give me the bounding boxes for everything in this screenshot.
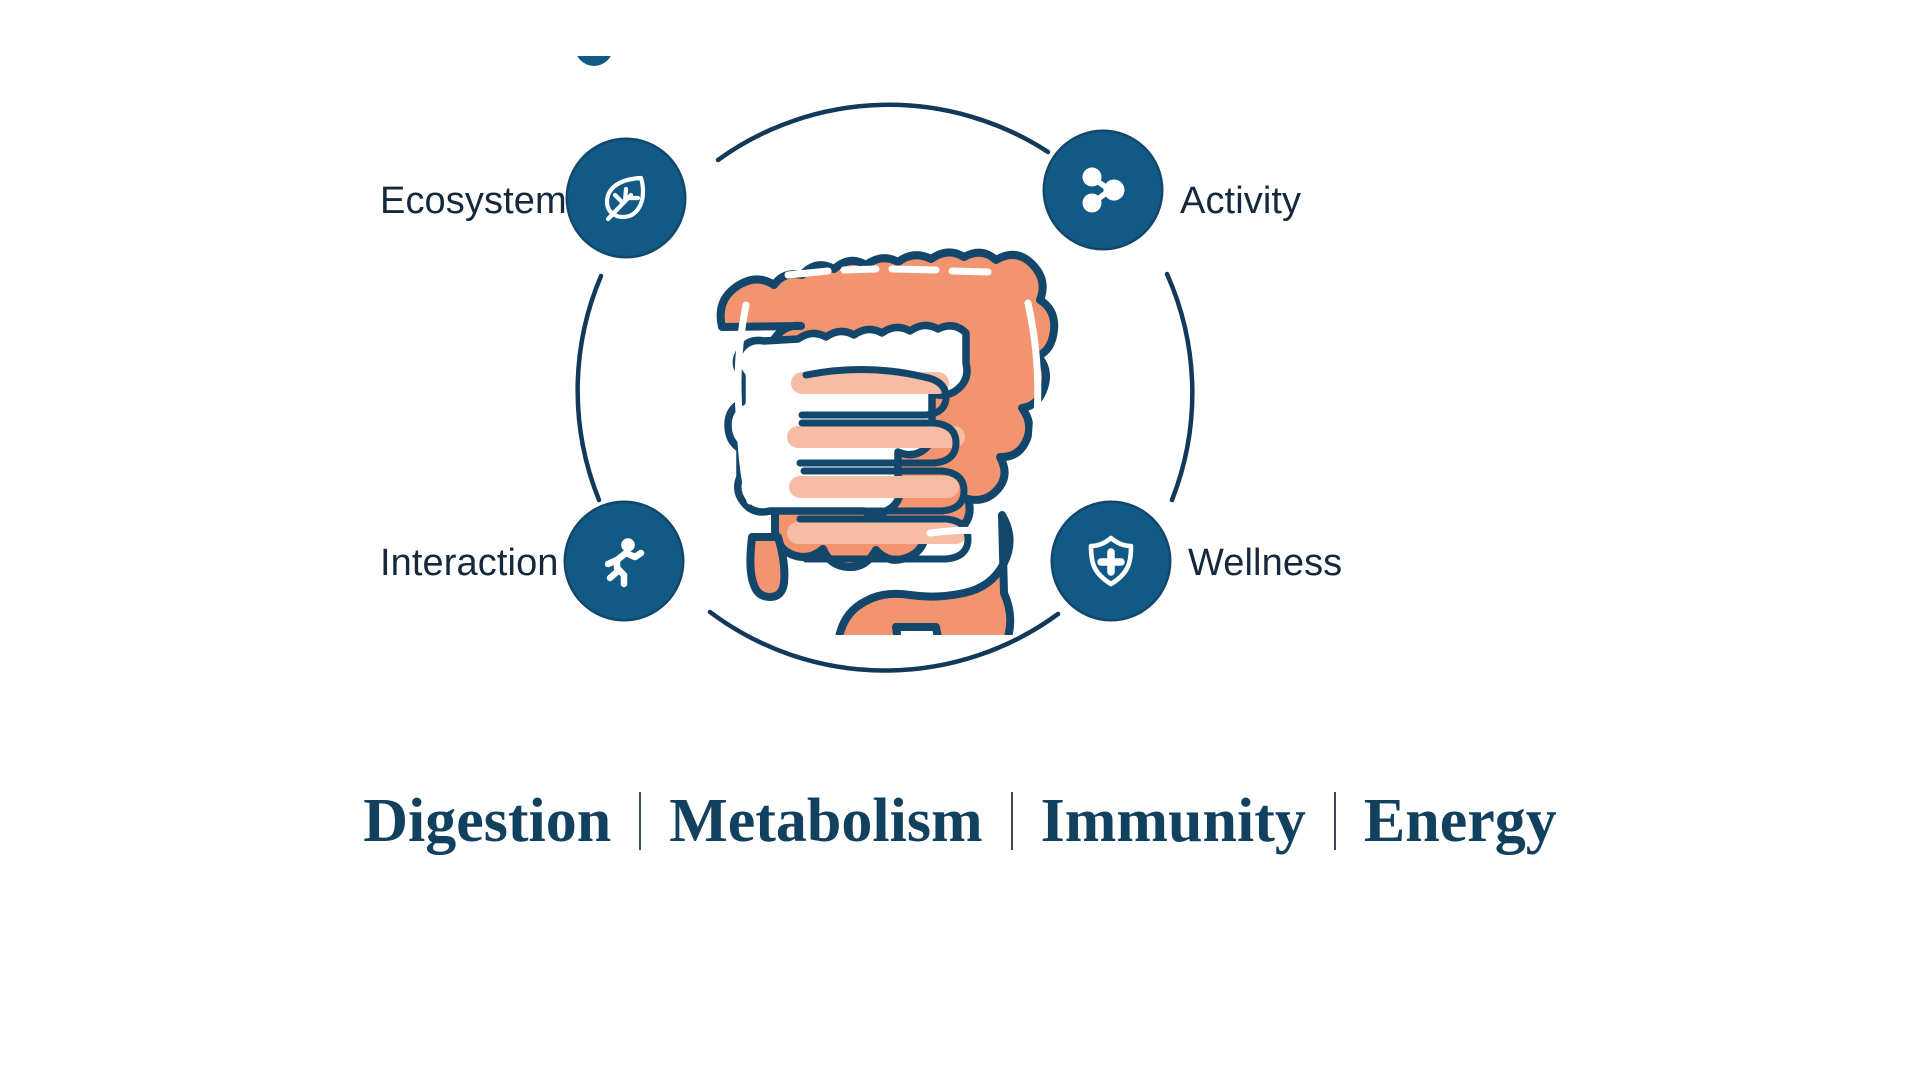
node-badge-activity[interactable] [1045,132,1161,248]
infographic-canvas: Ecosystem Activity Interaction Wellness … [0,0,1920,1080]
keyword-immunity: Immunity [1013,790,1334,852]
running-person-icon [593,530,655,592]
node-badge-interaction[interactable] [566,503,682,619]
ring-arc-top [718,105,1048,160]
keyword-metabolism: Metabolism [641,790,1010,852]
keyword-energy: Energy [1336,790,1585,852]
intestine-svg [680,215,1100,635]
intestine-illustration [680,215,1100,635]
gut-health-diagram: Ecosystem Activity Interaction Wellness [380,60,1540,700]
keyword-digestion: Digestion [335,790,639,852]
node-label-activity: Activity [1180,182,1301,220]
node-label-ecosystem: Ecosystem [380,182,552,220]
shield-plus-icon [1080,530,1142,592]
leaf-icon [595,167,657,229]
network-nodes-icon [1072,159,1134,221]
node-label-wellness: Wellness [1188,544,1342,582]
node-badge-ecosystem[interactable] [568,140,684,256]
ring-arc-right [1167,274,1192,500]
keyword-strip: Digestion Metabolism Immunity Energy [0,790,1920,852]
node-label-interaction: Interaction [380,544,552,582]
node-badge-wellness[interactable] [1053,503,1169,619]
ring-arc-left [578,276,601,500]
